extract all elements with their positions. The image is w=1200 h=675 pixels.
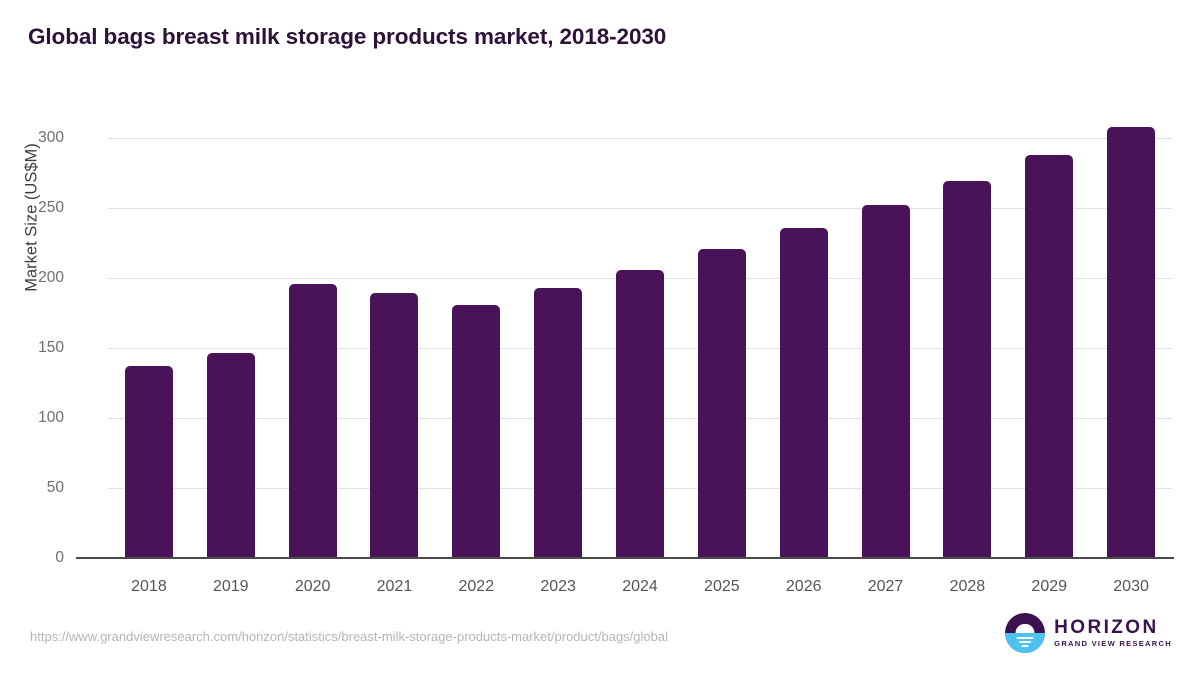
x-axis-tick-label: 2028: [950, 578, 986, 596]
y-axis-tick-label: 250: [4, 199, 64, 217]
x-axis-tick-label: 2026: [786, 578, 822, 596]
bar[interactable]: [698, 249, 746, 558]
x-axis-tick-label: 2023: [540, 578, 576, 596]
x-axis-tick-label: 2027: [868, 578, 904, 596]
bar-group: 2028: [926, 110, 1008, 558]
x-axis-tick-label: 2025: [704, 578, 740, 596]
bar-group: 2024: [599, 110, 681, 558]
x-axis-tick-label: 2029: [1031, 578, 1067, 596]
bar-group: 2027: [845, 110, 927, 558]
horizon-logo-icon: [1005, 613, 1045, 653]
bar-group: 2018: [108, 110, 190, 558]
x-axis-tick-label: 2020: [295, 578, 331, 596]
y-axis-tick-label: 50: [4, 479, 64, 497]
y-axis-title: Market Size (US$M): [23, 68, 42, 368]
bar[interactable]: [534, 288, 582, 558]
y-axis-tick-label: 200: [4, 269, 64, 287]
bar[interactable]: [616, 270, 664, 558]
bar-group: 2023: [517, 110, 599, 558]
logo-brand-name: HORIZON: [1054, 618, 1172, 637]
bar-group: 2020: [272, 110, 354, 558]
logo-text-block: HORIZON GRAND VIEW RESEARCH: [1054, 618, 1172, 648]
bar[interactable]: [780, 228, 828, 558]
x-axis-tick-label: 2019: [213, 578, 249, 596]
page-title: Global bags breast milk storage products…: [28, 24, 666, 50]
bar-group: 2021: [354, 110, 436, 558]
horizon-logo[interactable]: HORIZON GRAND VIEW RESEARCH: [1005, 613, 1172, 653]
bar[interactable]: [1025, 155, 1073, 558]
bar[interactable]: [125, 366, 173, 558]
x-axis-tick-label: 2021: [377, 578, 413, 596]
x-axis-tick-label: 2030: [1113, 578, 1149, 596]
logo-ray-2: [1019, 641, 1031, 643]
y-axis-tick-label: 0: [4, 549, 64, 567]
y-axis-tick-label: 300: [4, 129, 64, 147]
bar-group: 2026: [763, 110, 845, 558]
x-axis-line: [76, 557, 1174, 559]
y-axis-tick-label: 150: [4, 339, 64, 357]
bar[interactable]: [1107, 127, 1155, 558]
logo-ray-1: [1017, 637, 1034, 639]
bar[interactable]: [289, 284, 337, 558]
bar[interactable]: [943, 181, 991, 558]
logo-sun-shape: [1016, 624, 1035, 634]
y-axis-tick-label: 100: [4, 409, 64, 427]
logo-ray-3: [1022, 645, 1029, 647]
bar[interactable]: [207, 353, 255, 558]
bar[interactable]: [370, 293, 418, 558]
plot-area: 050100150200250300 201820192020202120222…: [108, 110, 1172, 558]
bar-group: 2029: [1008, 110, 1090, 558]
logo-tagline: GRAND VIEW RESEARCH: [1054, 640, 1172, 648]
bar-group: 2022: [435, 110, 517, 558]
source-url[interactable]: https://www.grandviewresearch.com/horizo…: [30, 629, 668, 644]
chart-page: Global bags breast milk storage products…: [0, 0, 1200, 675]
bar-group: 2025: [681, 110, 763, 558]
bar[interactable]: [452, 305, 500, 558]
bar-group: 2030: [1090, 110, 1172, 558]
bar-group: 2019: [190, 110, 272, 558]
x-axis-tick-label: 2022: [459, 578, 495, 596]
bar[interactable]: [862, 205, 910, 558]
x-axis-tick-label: 2018: [131, 578, 167, 596]
x-axis-tick-label: 2024: [622, 578, 658, 596]
